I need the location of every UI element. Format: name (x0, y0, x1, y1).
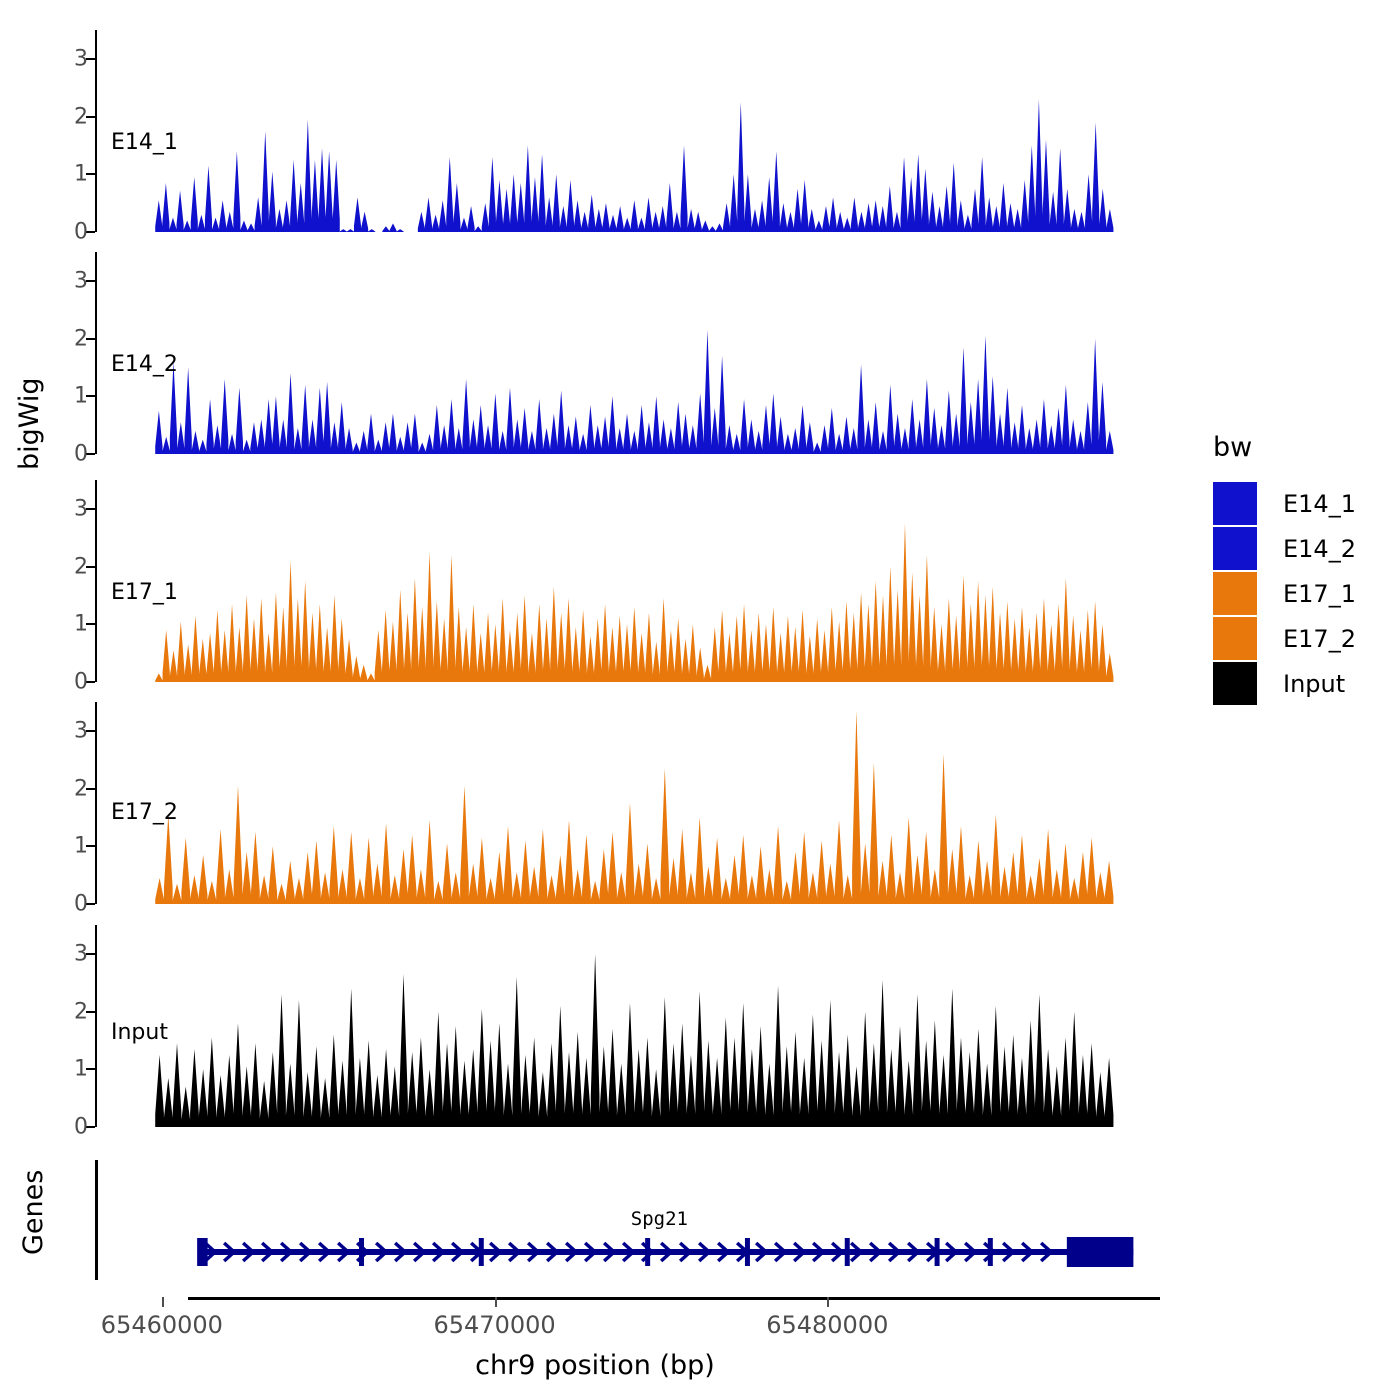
y-axis-title: bigWig (14, 377, 45, 470)
y-tick-label: 2 (74, 999, 88, 1024)
y-tick-label: 2 (74, 554, 88, 579)
gene-model[interactable] (95, 1160, 1160, 1300)
genes-panel: Spg21 (95, 1160, 1160, 1300)
plot-area (97, 252, 1160, 454)
x-tick-label: 65460000 (101, 1311, 223, 1339)
y-tick-label: 0 (74, 220, 88, 245)
legend-item-e14_2[interactable]: E14_2 (1213, 526, 1356, 571)
legend-swatch (1213, 527, 1257, 570)
y-tick-label: 3 (74, 496, 88, 521)
legend: bw E14_1E14_2E17_1E17_2Input (1213, 432, 1356, 706)
y-tick-label: 3 (74, 268, 88, 293)
x-tick (162, 1297, 164, 1307)
x-tick-label: 65470000 (434, 1311, 556, 1339)
y-tick-label: 3 (74, 941, 88, 966)
legend-item-e17_2[interactable]: E17_2 (1213, 616, 1356, 661)
y-tick-label: 3 (74, 718, 88, 743)
signal-trace-e17_2 (97, 702, 1160, 904)
legend-item-e17_1[interactable]: E17_1 (1213, 571, 1356, 616)
track-panel-e17_2: 0123 (95, 702, 1160, 904)
x-axis-line (188, 1297, 1160, 1300)
legend-swatch (1213, 482, 1257, 525)
legend-items: E14_1E14_2E17_1E17_2Input (1213, 481, 1356, 706)
y-tick-label: 2 (74, 776, 88, 801)
legend-item-input[interactable]: Input (1213, 661, 1356, 706)
track-panel-e14_1: 0123 (95, 30, 1160, 232)
x-tick (827, 1297, 829, 1307)
y-tick-label: 1 (74, 1057, 88, 1082)
legend-swatch (1213, 662, 1257, 705)
legend-label: E17_1 (1283, 580, 1356, 608)
track-label-e17_2: E17_2 (111, 800, 178, 825)
genes-axis-title: Genes (18, 1170, 49, 1255)
track-panel-e14_2: 0123 (95, 252, 1160, 454)
legend-title: bw (1213, 432, 1356, 463)
y-tick-label: 3 (74, 46, 88, 71)
legend-swatch (1213, 572, 1257, 615)
legend-label: E17_2 (1283, 625, 1356, 653)
y-tick-label: 1 (74, 384, 88, 409)
signal-trace-input (97, 925, 1160, 1127)
x-axis-title: chr9 position (bp) (0, 1350, 1190, 1381)
y-tick-label: 1 (74, 834, 88, 859)
legend-swatch (1213, 617, 1257, 660)
track-label-e17_1: E17_1 (111, 580, 178, 605)
track-label-e14_2: E14_2 (111, 352, 178, 377)
plot-area (97, 925, 1160, 1127)
legend-label: E14_2 (1283, 535, 1356, 563)
track-panel-e17_1: 0123 (95, 480, 1160, 682)
legend-label: Input (1283, 670, 1345, 698)
y-tick-label: 1 (74, 162, 88, 187)
y-tick-label: 0 (74, 442, 88, 467)
x-tick (495, 1297, 497, 1307)
legend-item-e14_1[interactable]: E14_1 (1213, 481, 1356, 526)
y-tick-label: 1 (74, 612, 88, 637)
signal-trace-e14_1 (97, 30, 1160, 232)
y-tick-label: 0 (74, 670, 88, 695)
legend-label: E14_1 (1283, 490, 1356, 518)
track-panel-input: 0123 (95, 925, 1160, 1127)
genes-axis-line (95, 1160, 98, 1280)
y-tick-label: 2 (74, 326, 88, 351)
x-tick-label: 65480000 (766, 1311, 888, 1339)
y-tick-label: 0 (74, 892, 88, 917)
bigwig-genome-browser-figure: bigWig Genes chr9 position (bp) 01230123… (0, 0, 1400, 1400)
y-tick-label: 0 (74, 1115, 88, 1140)
track-label-input: Input (111, 1020, 168, 1045)
plot-area (97, 702, 1160, 904)
y-tick-label: 2 (74, 104, 88, 129)
signal-trace-e17_1 (97, 480, 1160, 682)
plot-area (97, 480, 1160, 682)
signal-trace-e14_2 (97, 252, 1160, 454)
gene-name-label: Spg21 (631, 1208, 688, 1230)
plot-area (97, 30, 1160, 232)
track-label-e14_1: E14_1 (111, 130, 178, 155)
